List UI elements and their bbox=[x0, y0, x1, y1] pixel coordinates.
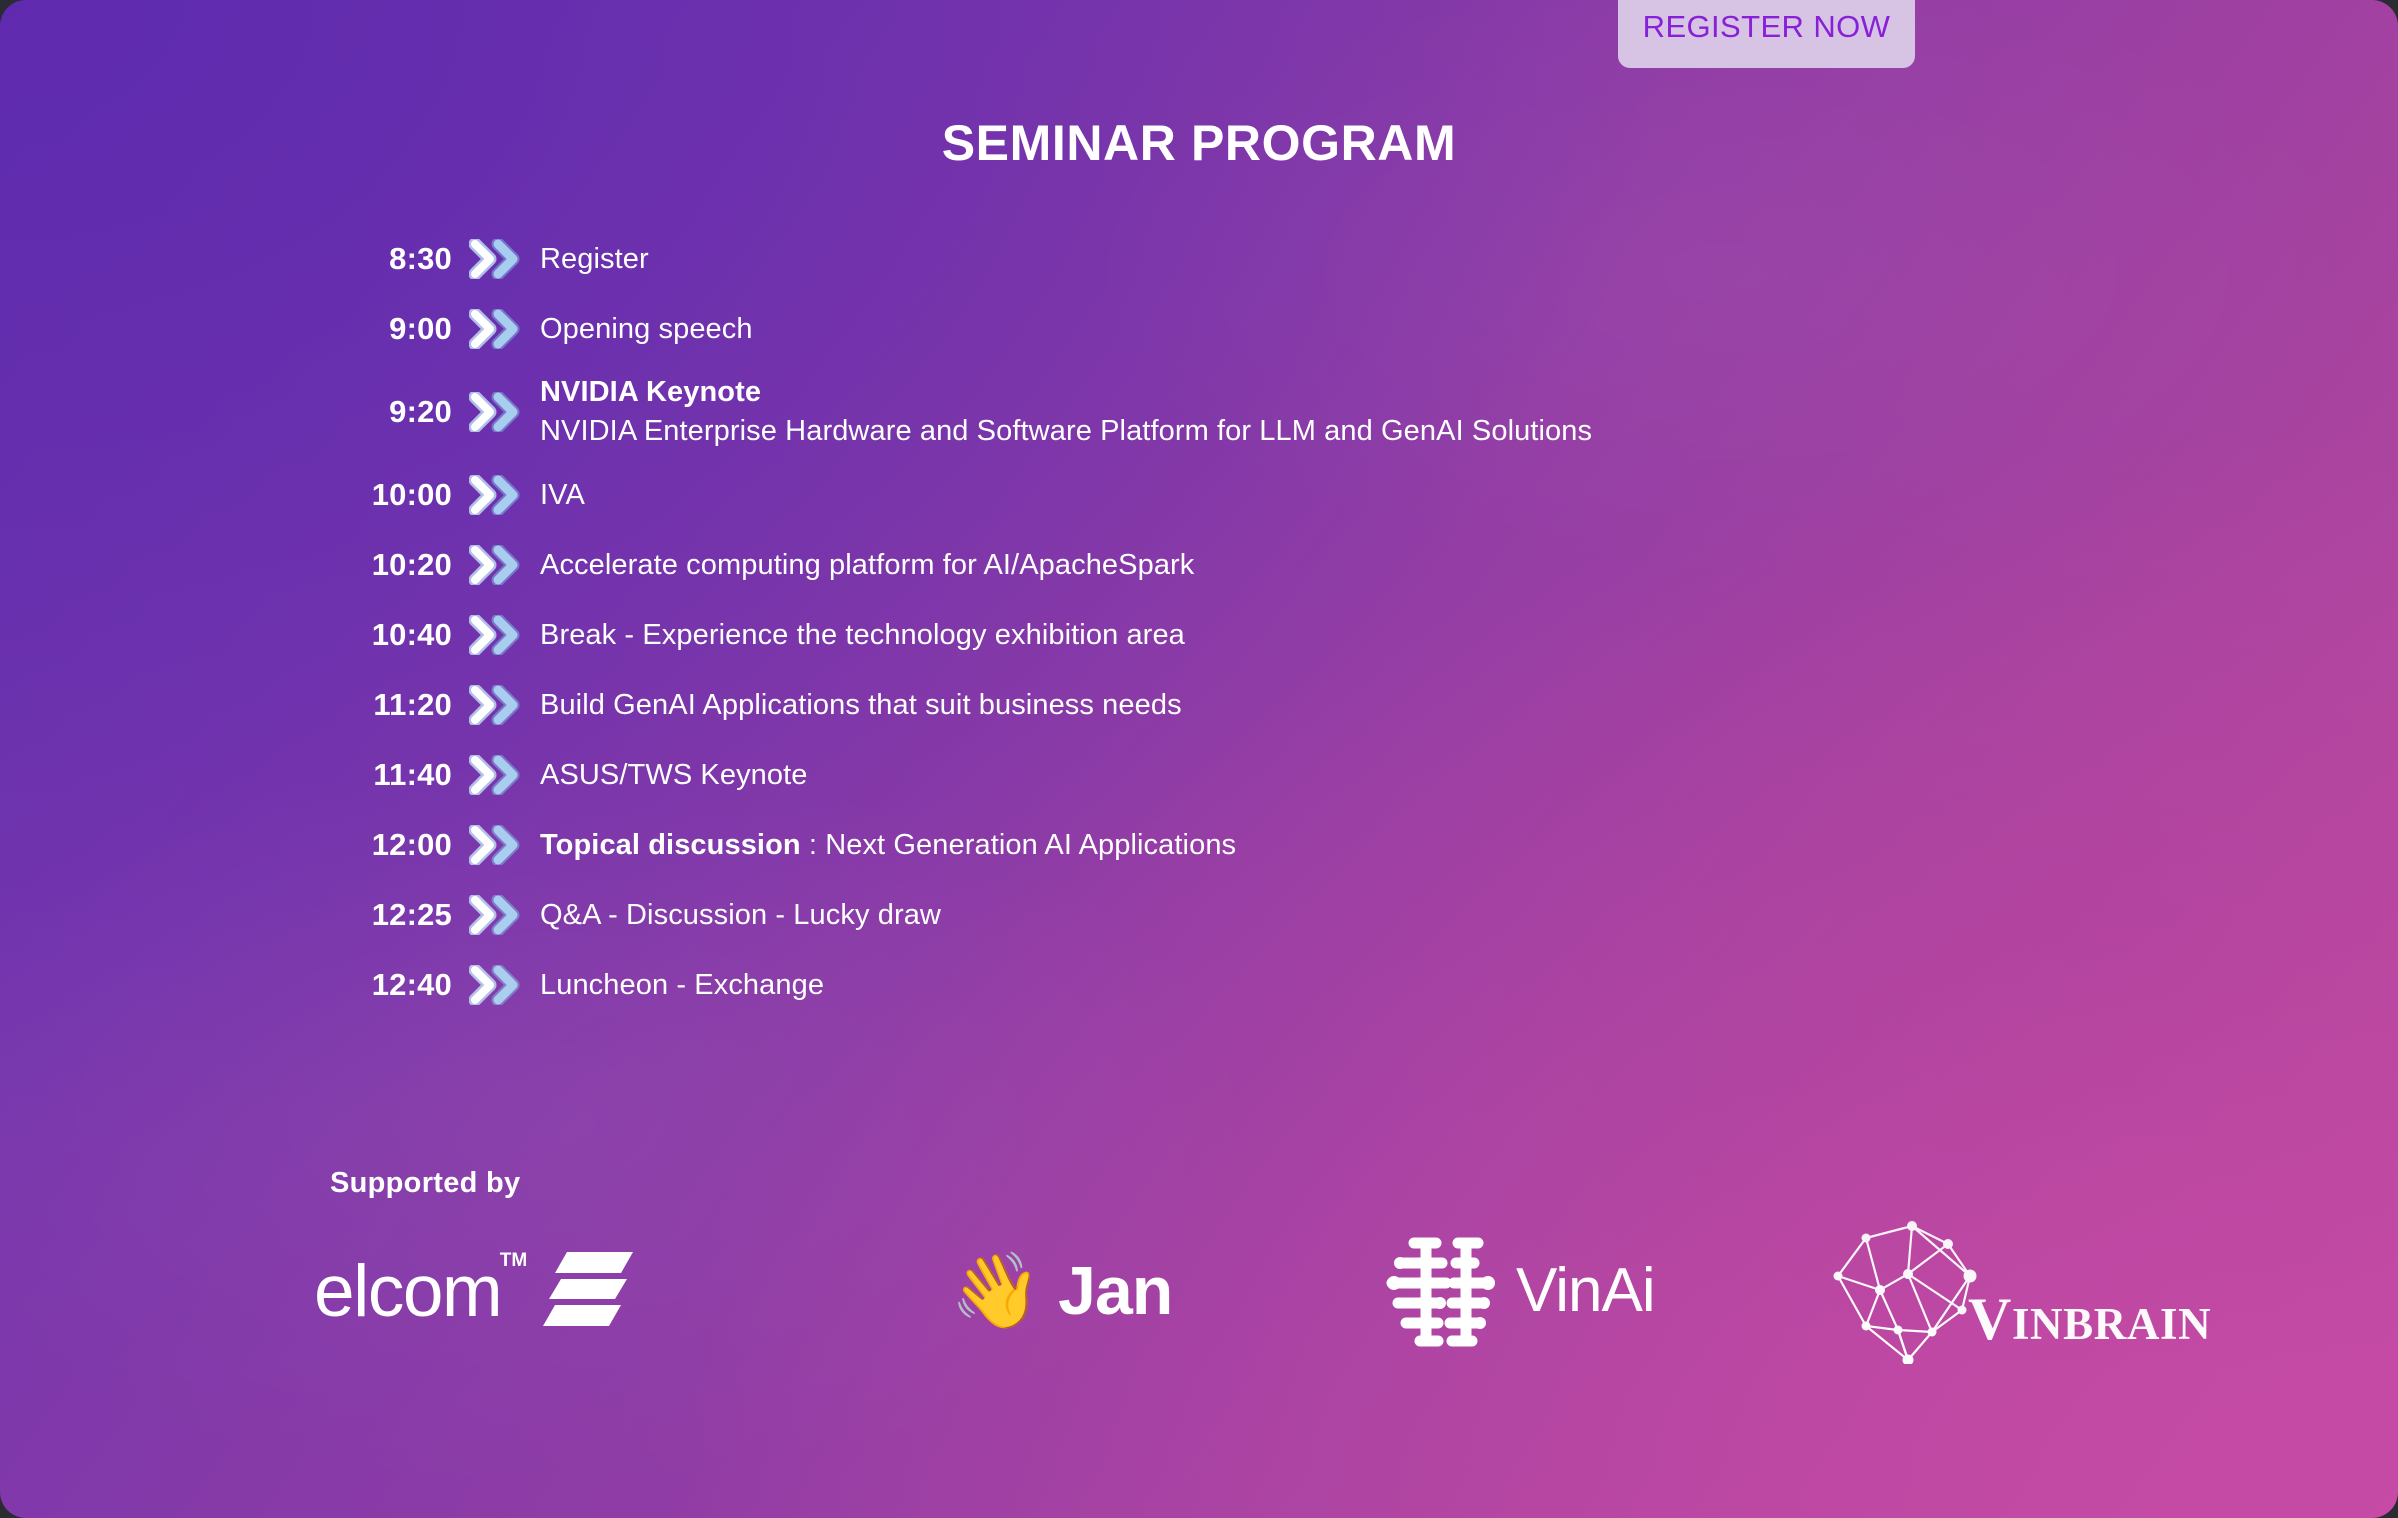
agenda-row-time: 10:40 bbox=[330, 617, 452, 653]
double-chevron-right-icon bbox=[452, 825, 538, 865]
agenda-row: 12:00Topical discussion : Next Generatio… bbox=[330, 810, 2030, 880]
vinai-wordmark: VinAi bbox=[1516, 1260, 1655, 1322]
page-title: SEMINAR PROGRAM bbox=[0, 114, 2398, 172]
vinbrain-rest: INBRAIN bbox=[2012, 1299, 2211, 1349]
agenda-row-time: 10:20 bbox=[330, 547, 452, 583]
double-chevron-right-icon bbox=[452, 545, 538, 585]
agenda-row-time: 10:00 bbox=[330, 477, 452, 513]
elcom-word-text: elcom bbox=[314, 1251, 501, 1332]
agenda-row-body: NVIDIA KeynoteNVIDIA Enterprise Hardware… bbox=[538, 373, 2030, 451]
agenda-row-text: Q&A - Discussion - Lucky draw bbox=[540, 896, 2030, 935]
elcom-trademark: TM bbox=[500, 1251, 527, 1270]
agenda-row-time: 12:00 bbox=[330, 827, 452, 863]
agenda-row-body: Break - Experience the technology exhibi… bbox=[538, 616, 2030, 655]
agenda-row: 10:40Break - Experience the technology e… bbox=[330, 600, 2030, 670]
agenda-row-heading: NVIDIA Keynote bbox=[540, 373, 2030, 412]
vinbrain-wordmark: VINBRAIN bbox=[1968, 1289, 2211, 1349]
double-chevron-right-icon bbox=[452, 965, 538, 1005]
vinai-circuit-icon bbox=[1380, 1229, 1502, 1354]
agenda-row-text: Register bbox=[540, 240, 2030, 279]
agenda-row-body: Q&A - Discussion - Lucky draw bbox=[538, 896, 2030, 935]
agenda-row: 10:00IVA bbox=[330, 460, 2030, 530]
jan-wordmark: Jan bbox=[1058, 1257, 1172, 1325]
agenda-row-time: 12:25 bbox=[330, 897, 452, 933]
double-chevron-right-icon bbox=[452, 895, 538, 935]
agenda-row-body: Register bbox=[538, 240, 2030, 279]
waving-hand-icon: 👋 bbox=[950, 1254, 1042, 1328]
double-chevron-right-icon bbox=[452, 392, 538, 432]
agenda-row-text: ASUS/TWS Keynote bbox=[540, 756, 2030, 795]
double-chevron-right-icon bbox=[452, 685, 538, 725]
agenda-row-time: 11:40 bbox=[330, 757, 452, 793]
agenda-row-time: 9:20 bbox=[330, 394, 452, 430]
double-chevron-right-icon bbox=[452, 755, 538, 795]
agenda-row-rest: : Next Generation AI Applications bbox=[801, 829, 1236, 861]
double-chevron-right-icon bbox=[452, 475, 538, 515]
logo-jan: 👋 Jan bbox=[820, 1216, 1260, 1366]
logo-vinai: VinAi bbox=[1260, 1216, 1710, 1366]
agenda-row-text: IVA bbox=[540, 476, 2030, 515]
agenda-row-text: Luncheon - Exchange bbox=[540, 966, 2030, 1005]
agenda-row-text: Break - Experience the technology exhibi… bbox=[540, 616, 2030, 655]
agenda-row-body: ASUS/TWS Keynote bbox=[538, 756, 2030, 795]
agenda-row: 10:20Accelerate computing platform for A… bbox=[330, 530, 2030, 600]
agenda-row-text: NVIDIA Enterprise Hardware and Software … bbox=[540, 412, 2030, 451]
agenda-row-text: Opening speech bbox=[540, 310, 2030, 349]
agenda-row-body: IVA bbox=[538, 476, 2030, 515]
logo-vinbrain: VINBRAIN bbox=[1710, 1216, 2130, 1366]
agenda-row-text: Topical discussion : Next Generation AI … bbox=[540, 826, 2030, 865]
agenda-row-time: 9:00 bbox=[330, 311, 452, 347]
agenda-row-body: Topical discussion : Next Generation AI … bbox=[538, 826, 2030, 865]
agenda-row: 12:40Luncheon - Exchange bbox=[330, 950, 2030, 1020]
elcom-wordmark: elcom TM bbox=[314, 1255, 501, 1328]
supported-by-label: Supported by bbox=[330, 1167, 521, 1200]
agenda-row: 9:00Opening speech bbox=[330, 294, 2030, 364]
agenda-row-time: 8:30 bbox=[330, 241, 452, 277]
sponsor-logo-strip: elcom TM 👋 Jan bbox=[300, 1216, 2130, 1366]
agenda-row-time: 12:40 bbox=[330, 967, 452, 1003]
agenda-row: 9:20NVIDIA KeynoteNVIDIA Enterprise Hard… bbox=[330, 364, 2030, 460]
register-now-button[interactable]: REGISTER NOW bbox=[1618, 0, 1915, 68]
seminar-program-slide: REGISTER NOW SEMINAR PROGRAM 8:30Registe… bbox=[0, 0, 2398, 1518]
double-chevron-right-icon bbox=[452, 239, 538, 279]
agenda-row-time: 11:20 bbox=[330, 687, 452, 723]
agenda-row: 8:30Register bbox=[330, 224, 2030, 294]
elcom-e-mark-icon bbox=[541, 1252, 633, 1331]
agenda-row: 12:25Q&A - Discussion - Lucky draw bbox=[330, 880, 2030, 950]
agenda-row: 11:40ASUS/TWS Keynote bbox=[330, 740, 2030, 810]
agenda-row-text: Build GenAI Applications that suit busin… bbox=[540, 686, 2030, 725]
agenda-row: 11:20Build GenAI Applications that suit … bbox=[330, 670, 2030, 740]
agenda-row-body: Luncheon - Exchange bbox=[538, 966, 2030, 1005]
double-chevron-right-icon bbox=[452, 309, 538, 349]
agenda-list: 8:30Register9:00Opening speech9:20NVIDIA… bbox=[330, 224, 2030, 1020]
agenda-row-body: Accelerate computing platform for AI/Apa… bbox=[538, 546, 2030, 585]
agenda-row-body: Build GenAI Applications that suit busin… bbox=[538, 686, 2030, 725]
agenda-row-body: Opening speech bbox=[538, 310, 2030, 349]
agenda-row-text: Accelerate computing platform for AI/Apa… bbox=[540, 546, 2030, 585]
double-chevron-right-icon bbox=[452, 615, 538, 655]
vinbrain-initial: V bbox=[1968, 1286, 2012, 1352]
logo-elcom: elcom TM bbox=[300, 1216, 820, 1366]
agenda-row-lead: Topical discussion bbox=[540, 829, 801, 861]
